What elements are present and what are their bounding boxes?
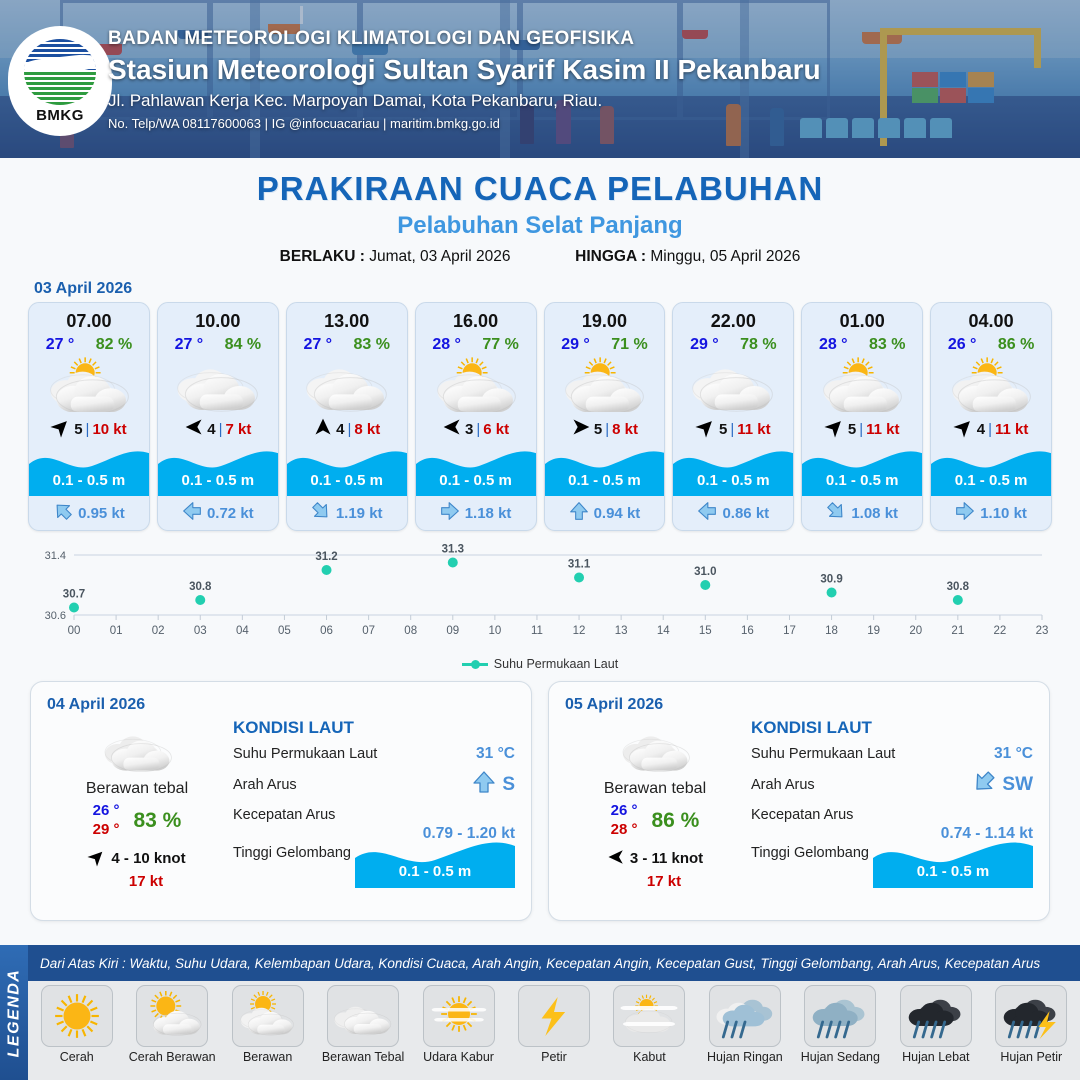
svg-text:17: 17 xyxy=(783,625,796,637)
card-wind: 5 | 11 kt xyxy=(802,414,922,444)
card-wind: 5 | 11 kt xyxy=(673,414,793,444)
card-humidity: 86 % xyxy=(998,336,1034,354)
card-weather-icon xyxy=(802,354,922,414)
legend-icon-fog xyxy=(613,985,685,1047)
card-gust: 6 kt xyxy=(483,421,509,438)
svg-text:09: 09 xyxy=(446,625,459,637)
legend-item: Hujan Lebat xyxy=(891,985,980,1064)
berlaku-value: Jumat, 03 April 2026 xyxy=(369,248,510,265)
forecast-date-label: 03 April 2026 xyxy=(0,266,1080,302)
current-direction-icon xyxy=(569,501,589,525)
day-temp-max: 29 ° xyxy=(93,821,120,840)
day-wind-direction-icon xyxy=(607,848,625,870)
card-current-speed: 1.18 kt xyxy=(465,505,512,522)
card-time: 19.00 xyxy=(545,303,665,332)
card-gust: 8 kt xyxy=(354,421,380,438)
forecast-card: 22.00 29 ° 78 % 5 | 11 kt xyxy=(672,302,794,531)
svg-text:23: 23 xyxy=(1036,625,1049,637)
daily-forecast-card: 04 April 2026 Berawan tebal 26 ° 29 ° xyxy=(30,681,532,921)
wind-direction-icon xyxy=(825,417,845,441)
card-current-speed: 0.94 kt xyxy=(594,505,641,522)
card-wave: 0.1 - 0.5 m xyxy=(158,444,278,496)
current-direction-icon xyxy=(440,501,460,525)
hingga-value: Minggu, 05 April 2026 xyxy=(650,248,800,265)
card-temperature: 27 ° xyxy=(175,336,204,354)
card-time: 01.00 xyxy=(802,303,922,332)
card-time: 16.00 xyxy=(416,303,536,332)
forecast-card: 13.00 27 ° 83 % 4 | 8 kt 0 xyxy=(286,302,408,531)
day-temp-max: 28 ° xyxy=(611,821,638,840)
chart-legend: Suhu Permukaan Laut xyxy=(0,657,1080,671)
svg-text:14: 14 xyxy=(657,625,670,637)
card-time: 13.00 xyxy=(287,303,407,332)
svg-text:30.8: 30.8 xyxy=(189,581,212,593)
legend-tab-label: LEGENDA xyxy=(5,968,23,1057)
card-current: 1.10 kt xyxy=(931,496,1051,530)
svg-text:01: 01 xyxy=(110,625,123,637)
legend-items: Cerah Cerah Berawan Berawan xyxy=(32,985,1076,1064)
current-direction-icon xyxy=(826,501,846,525)
forecast-card: 16.00 28 ° 77 % 3 | 6 kt 0 xyxy=(415,302,537,531)
day-wind-range: 3 - 11 knot xyxy=(630,850,703,867)
card-wind-speed: 5 xyxy=(594,421,602,438)
legend-marker-icon xyxy=(462,663,488,666)
svg-text:15: 15 xyxy=(699,625,712,637)
current-direction-icon xyxy=(53,501,73,525)
sea-condition-title: KONDISI LAUT xyxy=(751,718,1033,738)
card-wave-height: 0.1 - 0.5 m xyxy=(416,472,536,489)
day-condition: Berawan tebal xyxy=(565,780,745,798)
current-speed-label: Kecepatan Arus xyxy=(233,807,515,823)
legend-icon-haze xyxy=(423,985,495,1047)
station-contact: No. Telp/WA 08117600063 | IG @infocuacar… xyxy=(108,116,821,131)
card-time: 10.00 xyxy=(158,303,278,332)
card-wind-speed: 4 xyxy=(336,421,344,438)
legend-item: Hujan Petir xyxy=(987,985,1076,1064)
forecast-card: 10.00 27 ° 84 % 4 | 7 kt 0 xyxy=(157,302,279,531)
wave-height-label: Tinggi Gelombang xyxy=(751,845,869,861)
card-wave-height: 0.1 - 0.5 m xyxy=(931,472,1051,489)
wind-direction-icon xyxy=(696,417,716,441)
svg-text:10: 10 xyxy=(488,625,501,637)
card-wave: 0.1 - 0.5 m xyxy=(287,444,407,496)
current-direction-label: Arah Arus xyxy=(233,777,297,793)
legend-item-label: Hujan Ringan xyxy=(700,1050,789,1064)
svg-text:16: 16 xyxy=(741,625,754,637)
svg-text:30.6: 30.6 xyxy=(45,610,66,622)
svg-text:31.1: 31.1 xyxy=(568,559,591,571)
day-weather-icon xyxy=(47,718,227,780)
day-gust: 17 kt xyxy=(47,873,227,890)
validity-range: BERLAKU : Jumat, 03 April 2026 HINGGA : … xyxy=(0,248,1080,266)
daily-forecast-card: 05 April 2026 Berawan tebal 26 ° 28 ° xyxy=(548,681,1050,921)
card-gust: 7 kt xyxy=(226,421,252,438)
card-wind: 5 | 8 kt xyxy=(545,414,665,444)
card-current: 1.08 kt xyxy=(802,496,922,530)
wind-direction-icon xyxy=(954,417,974,441)
legend-icon-clouds xyxy=(327,985,399,1047)
svg-text:19: 19 xyxy=(867,625,880,637)
card-wave-height: 0.1 - 0.5 m xyxy=(802,472,922,489)
forecast-card: 07.00 27 ° 82 % 5 | 10 kt xyxy=(28,302,150,531)
bmkg-logo-text: BMKG xyxy=(36,107,84,124)
day-wind: 3 - 11 knot xyxy=(565,848,745,870)
day-date: 05 April 2026 xyxy=(565,696,1033,714)
sst-label: Suhu Permukaan Laut xyxy=(233,746,377,762)
legend-item-label: Berawan Tebal xyxy=(318,1050,407,1064)
legend-item: Cerah xyxy=(32,985,121,1064)
svg-text:30.7: 30.7 xyxy=(63,589,85,601)
svg-text:00: 00 xyxy=(68,625,81,637)
card-time: 04.00 xyxy=(931,303,1051,332)
card-gust: 11 kt xyxy=(995,421,1028,438)
header-text-block: BADAN METEOROLOGI KLIMATOLOGI DAN GEOFIS… xyxy=(108,28,821,131)
day-wave-height: 0.1 - 0.5 m xyxy=(355,863,515,880)
card-gust: 11 kt xyxy=(866,421,899,438)
day-gust: 17 kt xyxy=(565,873,745,890)
sst-label: Suhu Permukaan Laut xyxy=(751,746,895,762)
card-current-speed: 1.10 kt xyxy=(980,505,1027,522)
day-current-direction-icon xyxy=(972,770,996,800)
card-weather-icon xyxy=(416,354,536,414)
card-wave-height: 0.1 - 0.5 m xyxy=(158,472,278,489)
card-wind: 4 | 11 kt xyxy=(931,414,1051,444)
svg-text:22: 22 xyxy=(994,625,1007,637)
card-time: 22.00 xyxy=(673,303,793,332)
legend-item-label: Kabut xyxy=(605,1050,694,1064)
current-direction-icon xyxy=(182,501,202,525)
legend-item: Udara Kabur xyxy=(414,985,503,1064)
legend-item-label: Cerah xyxy=(32,1050,121,1064)
bmkg-logo: BMKG xyxy=(8,26,112,136)
svg-text:03: 03 xyxy=(194,625,207,637)
station-address: Jl. Pahlawan Kerja Kec. Marpoyan Damai, … xyxy=(108,91,821,111)
title-section: PRAKIRAAN CUACA PELABUHAN Pelabuhan Sela… xyxy=(0,158,1080,266)
day-wave-graphic: 0.1 - 0.5 m xyxy=(873,836,1033,888)
sst-value: 31 °C xyxy=(994,745,1033,763)
card-humidity: 83 % xyxy=(353,336,389,354)
port-name: Pelabuhan Selat Panjang xyxy=(0,212,1080,240)
card-gust: 11 kt xyxy=(737,421,770,438)
day-temp-min: 26 ° xyxy=(611,802,638,821)
card-wave: 0.1 - 0.5 m xyxy=(931,444,1051,496)
card-wind-speed: 3 xyxy=(465,421,473,438)
card-temperature: 26 ° xyxy=(948,336,977,354)
forecast-card: 01.00 28 ° 83 % 5 | 11 kt xyxy=(801,302,923,531)
day-humidity: 86 % xyxy=(651,809,699,833)
legend-item-label: Berawan xyxy=(223,1050,312,1064)
legend-item: Cerah Berawan xyxy=(127,985,216,1064)
legend-item: Berawan Tebal xyxy=(318,985,407,1064)
card-wave: 0.1 - 0.5 m xyxy=(545,444,665,496)
card-weather-icon xyxy=(545,354,665,414)
card-current: 0.72 kt xyxy=(158,496,278,530)
day-wave-height: 0.1 - 0.5 m xyxy=(873,863,1033,880)
day-temp-min: 26 ° xyxy=(93,802,120,821)
card-humidity: 83 % xyxy=(869,336,905,354)
card-wave-height: 0.1 - 0.5 m xyxy=(673,472,793,489)
svg-text:30.9: 30.9 xyxy=(820,574,842,586)
wind-direction-icon xyxy=(313,417,333,441)
card-wind: 5 | 10 kt xyxy=(29,414,149,444)
card-humidity: 78 % xyxy=(740,336,776,354)
legend-item-label: Hujan Lebat xyxy=(891,1050,980,1064)
svg-text:20: 20 xyxy=(909,625,922,637)
legend-item-label: Udara Kabur xyxy=(414,1050,503,1064)
legend-item-label: Hujan Sedang xyxy=(796,1050,885,1064)
svg-text:13: 13 xyxy=(615,625,628,637)
card-current: 0.86 kt xyxy=(673,496,793,530)
card-wind: 4 | 7 kt xyxy=(158,414,278,444)
day-condition: Berawan tebal xyxy=(47,780,227,798)
legend-item-label: Cerah Berawan xyxy=(127,1050,216,1064)
card-weather-icon xyxy=(673,354,793,414)
legend-tab: LEGENDA xyxy=(0,945,28,1080)
hourly-forecast-row: 07.00 27 ° 82 % 5 | 10 kt xyxy=(0,302,1080,531)
berlaku-label: BERLAKU : xyxy=(280,248,365,265)
card-current-speed: 1.08 kt xyxy=(851,505,898,522)
current-speed-label: Kecepatan Arus xyxy=(751,807,1033,823)
sst-chart: 30.631.400010203040506070809101112131415… xyxy=(22,543,1058,653)
card-wind-speed: 5 xyxy=(74,421,82,438)
card-current-speed: 0.72 kt xyxy=(207,505,254,522)
card-wind-speed: 4 xyxy=(207,421,215,438)
card-gust: 10 kt xyxy=(92,421,126,438)
svg-text:06: 06 xyxy=(320,625,333,637)
card-weather-icon xyxy=(287,354,407,414)
legend-icon-sun-clouds xyxy=(232,985,304,1047)
card-humidity: 84 % xyxy=(225,336,261,354)
legend-item: Kabut xyxy=(605,985,694,1064)
wind-direction-icon xyxy=(184,417,204,441)
svg-text:21: 21 xyxy=(951,625,964,637)
legend-item: Hujan Ringan xyxy=(700,985,789,1064)
card-weather-icon xyxy=(29,354,149,414)
card-temperature: 27 ° xyxy=(303,336,332,354)
legend-icon-light-rain xyxy=(709,985,781,1047)
card-wind: 3 | 6 kt xyxy=(416,414,536,444)
day-wind-direction-icon xyxy=(88,848,106,870)
legend-icon-sun xyxy=(41,985,113,1047)
svg-text:08: 08 xyxy=(404,625,417,637)
day-wind: 4 - 10 knot xyxy=(47,848,227,870)
card-current-speed: 0.95 kt xyxy=(78,505,125,522)
card-current-speed: 1.19 kt xyxy=(336,505,383,522)
sst-chart-svg: 30.631.400010203040506070809101112131415… xyxy=(22,543,1058,653)
agency-name: BADAN METEOROLOGI KLIMATOLOGI DAN GEOFIS… xyxy=(108,28,821,50)
legend-icon-sun-cloud xyxy=(136,985,208,1047)
card-current: 1.19 kt xyxy=(287,496,407,530)
card-wind-speed: 5 xyxy=(719,421,727,438)
day-weather-icon xyxy=(565,718,745,780)
card-wave: 0.1 - 0.5 m xyxy=(29,444,149,496)
page-header: BMKG BADAN METEOROLOGI KLIMATOLOGI DAN G… xyxy=(0,0,1080,158)
svg-text:31.0: 31.0 xyxy=(694,566,716,578)
svg-text:12: 12 xyxy=(573,625,586,637)
card-wind-speed: 5 xyxy=(848,421,856,438)
wind-direction-icon xyxy=(571,417,591,441)
current-direction-icon xyxy=(955,501,975,525)
current-direction-icon xyxy=(311,501,331,525)
legend-note: Dari Atas Kiri : Waktu, Suhu Udara, Kele… xyxy=(28,945,1080,981)
wave-height-label: Tinggi Gelombang xyxy=(233,845,351,861)
card-temperature: 29 ° xyxy=(561,336,590,354)
legend-item-label: Petir xyxy=(509,1050,598,1064)
current-direction-value: SW xyxy=(972,770,1033,800)
legend-icon-moderate-rain xyxy=(804,985,876,1047)
card-weather-icon xyxy=(158,354,278,414)
card-temperature: 29 ° xyxy=(690,336,719,354)
card-temperature: 28 ° xyxy=(819,336,848,354)
card-humidity: 77 % xyxy=(482,336,518,354)
svg-text:18: 18 xyxy=(825,625,838,637)
card-wave-height: 0.1 - 0.5 m xyxy=(29,472,149,489)
forecast-card: 19.00 29 ° 71 % 5 | 8 kt 0 xyxy=(544,302,666,531)
legend-label: Suhu Permukaan Laut xyxy=(494,657,618,671)
card-wave: 0.1 - 0.5 m xyxy=(416,444,536,496)
card-wave-height: 0.1 - 0.5 m xyxy=(287,472,407,489)
legend-section: LEGENDA Dari Atas Kiri : Waktu, Suhu Uda… xyxy=(0,945,1080,1080)
svg-text:02: 02 xyxy=(152,625,165,637)
svg-text:11: 11 xyxy=(531,625,543,637)
station-name: Stasiun Meteorologi Sultan Syarif Kasim … xyxy=(108,54,821,86)
sst-value: 31 °C xyxy=(476,745,515,763)
svg-text:07: 07 xyxy=(362,625,375,637)
day-wave-graphic: 0.1 - 0.5 m xyxy=(355,836,515,888)
legend-item: Petir xyxy=(509,985,598,1064)
svg-text:04: 04 xyxy=(236,625,249,637)
daily-forecast-row: 04 April 2026 Berawan tebal 26 ° 29 ° xyxy=(0,671,1080,921)
card-time: 07.00 xyxy=(29,303,149,332)
svg-text:31.4: 31.4 xyxy=(45,550,66,562)
card-weather-icon xyxy=(931,354,1051,414)
card-wind: 4 | 8 kt xyxy=(287,414,407,444)
card-humidity: 71 % xyxy=(611,336,647,354)
current-direction-label: Arah Arus xyxy=(751,777,815,793)
legend-icon-lightning xyxy=(518,985,590,1047)
legend-icon-thunderstorm xyxy=(995,985,1067,1047)
svg-text:31.2: 31.2 xyxy=(315,551,337,563)
card-current-speed: 0.86 kt xyxy=(722,505,769,522)
card-temperature: 27 ° xyxy=(46,336,75,354)
card-current: 0.94 kt xyxy=(545,496,665,530)
card-wave: 0.1 - 0.5 m xyxy=(802,444,922,496)
legend-icon-heavy-rain xyxy=(900,985,972,1047)
card-wave: 0.1 - 0.5 m xyxy=(673,444,793,496)
hingga-label: HINGGA : xyxy=(575,248,646,265)
day-date: 04 April 2026 xyxy=(47,696,515,714)
day-wind-range: 4 - 10 knot xyxy=(111,850,185,867)
wind-direction-icon xyxy=(442,417,462,441)
legend-item: Berawan xyxy=(223,985,312,1064)
svg-text:31.3: 31.3 xyxy=(442,544,464,556)
card-current: 0.95 kt xyxy=(29,496,149,530)
legend-item: Hujan Sedang xyxy=(796,985,885,1064)
svg-text:30.8: 30.8 xyxy=(947,581,970,593)
card-humidity: 82 % xyxy=(96,336,132,354)
bmkg-emblem-icon xyxy=(24,39,96,105)
day-current-direction-icon xyxy=(472,770,496,800)
current-direction-value: S xyxy=(472,770,515,800)
card-wind-speed: 4 xyxy=(977,421,985,438)
card-gust: 8 kt xyxy=(612,421,638,438)
legend-item-label: Hujan Petir xyxy=(987,1050,1076,1064)
card-current: 1.18 kt xyxy=(416,496,536,530)
card-wave-height: 0.1 - 0.5 m xyxy=(545,472,665,489)
page-title: PRAKIRAAN CUACA PELABUHAN xyxy=(0,170,1080,208)
day-humidity: 83 % xyxy=(133,809,181,833)
card-temperature: 28 ° xyxy=(432,336,461,354)
svg-text:05: 05 xyxy=(278,625,291,637)
forecast-card: 04.00 26 ° 86 % 4 | 11 kt xyxy=(930,302,1052,531)
current-direction-icon xyxy=(697,501,717,525)
wind-direction-icon xyxy=(51,417,71,441)
sea-condition-title: KONDISI LAUT xyxy=(233,718,515,738)
